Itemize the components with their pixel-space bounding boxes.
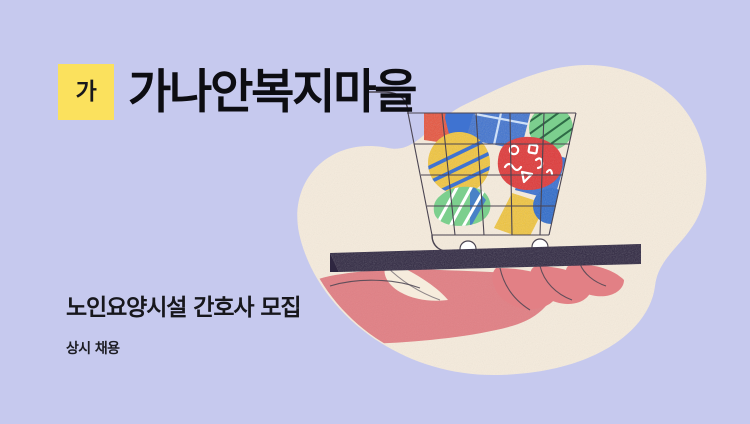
headline: 노인요양시설 간호사 모집 — [66, 295, 300, 323]
cart-item-red-squiggle-blob — [498, 137, 563, 190]
brand-title: 가나안복지마을 — [128, 69, 415, 116]
logo-lockup: 가 가나안복지마을 — [58, 64, 415, 120]
recruitment-banner: 가 가나안복지마을 노인요양시설 간호사 모집 상시 채용 — [0, 0, 750, 424]
subline: 상시 채용 — [66, 341, 119, 358]
logo-badge: 가 — [58, 64, 114, 120]
